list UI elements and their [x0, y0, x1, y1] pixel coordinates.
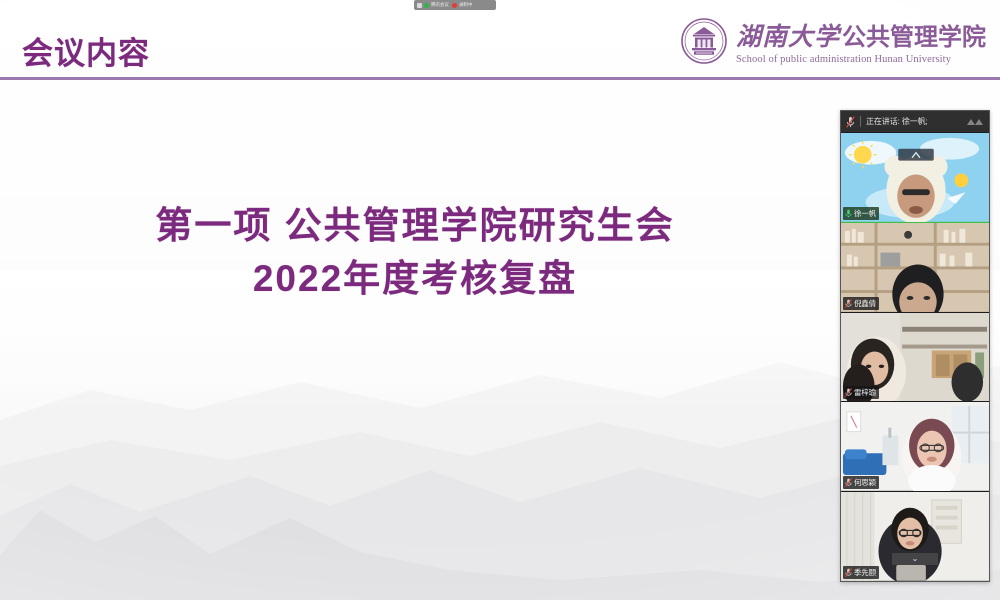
participant-name: 雷梓瑜 [854, 387, 876, 398]
mic-muted-icon [845, 478, 852, 487]
collapse-chevrons-icon[interactable] [966, 116, 984, 128]
meeting-toolbar[interactable]: 腾讯会议 录制中 [414, 0, 496, 10]
video-tile[interactable]: ⌄ 季先颐 [841, 492, 989, 581]
header-divider [0, 77, 1000, 80]
participant-name: 何思颖 [854, 477, 876, 488]
participant-name-tag: 何思颖 [843, 476, 879, 489]
slide-body: 第一项 公共管理学院研究生会 2022年度考核复盘 [0, 200, 830, 305]
video-tile-list: 徐一帆 [841, 133, 989, 581]
video-tile[interactable]: 何思颖 [841, 402, 989, 492]
slide-body-line-2: 2022年度考核复盘 [0, 253, 830, 306]
participant-name-tag: 倪鑫倩 [843, 297, 879, 310]
logo-university-name: 湖南大学 [736, 17, 840, 53]
slide-header: 会议内容 湖南大学 [0, 0, 1000, 80]
meeting-status-label: 腾讯会议 [431, 2, 449, 8]
logo-school-name: 公共管理学院 [842, 17, 986, 52]
participant-name: 徐一帆 [854, 208, 876, 219]
screen: 会议内容 湖南大学 [0, 0, 1000, 600]
video-panel[interactable]: 正在讲话: 徐一帆; [840, 110, 990, 582]
chevron-down-icon: ⌄ [892, 553, 938, 565]
slide-body-line-1: 第一项 公共管理学院研究生会 [0, 200, 830, 253]
speaking-status-text: 正在讲话: 徐一帆; [866, 116, 961, 127]
signal-icon [417, 3, 422, 8]
video-tile[interactable]: 雷梓瑜 [841, 313, 989, 403]
video-tile[interactable]: 倪鑫倩 [841, 223, 989, 313]
participant-name-tag: 徐一帆 [843, 207, 879, 220]
participant-name-tag: 雷梓瑜 [843, 386, 879, 399]
mic-on-icon [845, 209, 852, 218]
page-title: 会议内容 [22, 28, 150, 73]
toolbar-separator [860, 116, 861, 127]
recording-label: 录制中 [459, 2, 472, 8]
mic-muted-icon [846, 116, 855, 128]
logo-text: 湖南大学 公共管理学院 School of public administrat… [736, 17, 986, 65]
hunan-university-crest-icon [680, 17, 728, 65]
participant-name: 倪鑫倩 [854, 298, 876, 309]
mic-on-icon[interactable] [424, 3, 429, 8]
speaking-status-bar: 正在讲话: 徐一帆; [841, 111, 989, 133]
video-tile[interactable]: 徐一帆 [841, 133, 989, 223]
university-logo: 湖南大学 公共管理学院 School of public administrat… [680, 17, 986, 65]
participant-name: 季先颐 [854, 567, 876, 578]
participant-name-tag: 季先颐 [843, 566, 879, 579]
mic-muted-icon [845, 388, 852, 397]
mic-muted-icon [845, 299, 852, 308]
logo-english-name: School of public administration Hunan Un… [736, 54, 986, 65]
logo-chinese: 湖南大学 公共管理学院 [736, 17, 986, 53]
mic-muted-icon [845, 568, 852, 577]
record-dot-icon [452, 3, 457, 8]
